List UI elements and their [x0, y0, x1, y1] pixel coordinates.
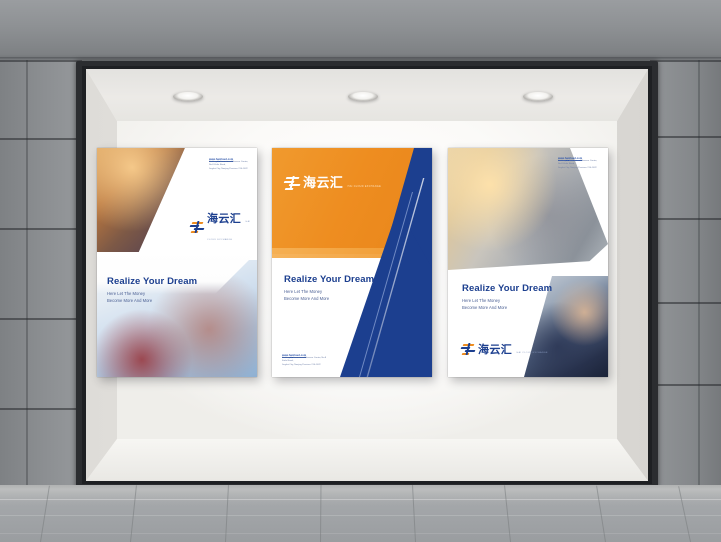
- wall-panels-left: [0, 60, 82, 485]
- floor-reflection: [0, 485, 721, 507]
- brand-name-cn: 海云汇: [207, 213, 241, 225]
- poster-right[interactable]: www.haicloud.com Building 3, Internation…: [448, 148, 608, 377]
- poster-right-address-1: Building 3, International Finance Center…: [558, 160, 602, 167]
- poster-center-subline-1: Here Let The Money: [284, 289, 322, 295]
- brand-name-cn: 海云汇: [478, 344, 512, 356]
- poster-left-logo-text: 海云汇 HAI CLOUD EXCHANGE: [207, 209, 257, 245]
- ceiling-spotlight-center: [348, 92, 378, 101]
- poster-center-subline-2: Become More And More: [284, 296, 329, 302]
- brand-mark-icon: [284, 176, 301, 191]
- poster-right-logo-text: 海云汇 HAI CLOUD EXCHANGE: [478, 340, 548, 358]
- poster-center-contact-block: www.haicloud.com Building 3, Internation…: [282, 354, 328, 367]
- ceiling-spotlight-right: [523, 92, 553, 101]
- brand-name-en: HAI CLOUD EXCHANGE: [517, 352, 548, 354]
- display-ceiling: [86, 69, 648, 121]
- poster-center-address-1: Building 3, International Finance Center…: [282, 357, 328, 364]
- poster-right-subline-2: Become More And More: [462, 305, 507, 311]
- poster-center-logo: 海云汇 HAI CLOUD EXCHANGE: [284, 174, 381, 192]
- poster-left-headline: Realize Your Dream: [107, 276, 197, 287]
- poster-center-address-2: Jingkai City, Nanjing Province 210-1022: [282, 364, 328, 367]
- poster-left-address-1: Building 3, International Finance Center…: [209, 161, 251, 168]
- wall-panels-right: [650, 60, 721, 485]
- storefront-display-scene: www.haicloud.com Building 3, Internation…: [0, 0, 721, 542]
- brand-mark-icon: [461, 343, 476, 356]
- poster-right-logo: 海云汇 HAI CLOUD EXCHANGE: [461, 340, 548, 358]
- poster-center-logo-text: 海云汇 HAI CLOUD EXCHANGE: [303, 174, 381, 192]
- poster-right-headline: Realize Your Dream: [462, 283, 552, 294]
- poster-left-subline-1: Here Let The Money: [107, 291, 145, 297]
- brand-name-en: HAI CLOUD EXCHANGE: [348, 185, 381, 188]
- brand-mark-icon: [190, 221, 205, 234]
- poster-center[interactable]: 海云汇 HAI CLOUD EXCHANGE Realize Your Drea…: [272, 148, 432, 377]
- poster-right-address-2: Jingkai City, Nanjing Province 210-1022: [558, 167, 602, 170]
- brand-name-cn: 海云汇: [303, 175, 343, 190]
- display-floor: [86, 439, 648, 481]
- poster-center-headline: Realize Your Dream: [284, 274, 374, 285]
- poster-left[interactable]: www.haicloud.com Building 3, Internation…: [97, 148, 257, 377]
- poster-left-address-2: Jingkai City, Nanjing Province 210-1022: [209, 168, 251, 171]
- poster-right-contact-block: www.haicloud.com Building 3, Internation…: [558, 157, 602, 170]
- poster-right-subline-1: Here Let The Money: [462, 298, 500, 304]
- poster-left-subline-2: Become More And More: [107, 298, 152, 304]
- poster-left-contact-block: www.haicloud.com Building 3, Internation…: [209, 158, 251, 171]
- poster-left-logo: 海云汇 HAI CLOUD EXCHANGE: [190, 209, 257, 245]
- ceiling-spotlight-left: [173, 92, 203, 101]
- exterior-floor: [0, 485, 721, 542]
